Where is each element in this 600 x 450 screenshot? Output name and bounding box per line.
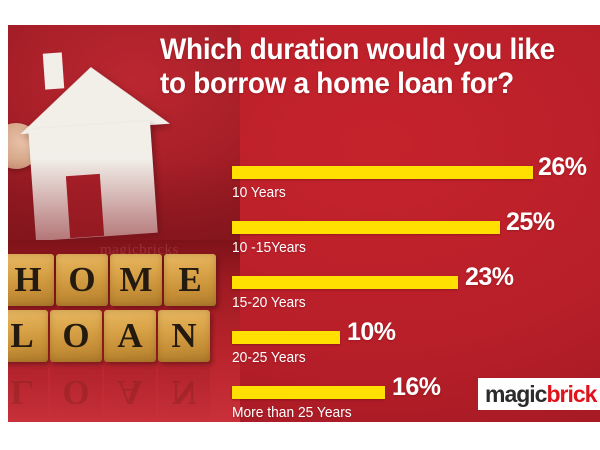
infographic-canvas: magicbricks H O M E L O A N L O A N — [0, 0, 600, 450]
page-title: Which duration would you like to borrow … — [160, 33, 577, 100]
red-panel: magicbricks H O M E L O A N L O A N — [8, 25, 600, 422]
magicbricks-logo[interactable]: magicbrick — [478, 378, 600, 410]
chart-row: 23% 15-20 Years — [232, 270, 600, 325]
logo-text-magic: magic — [485, 381, 546, 407]
bar-value-20-25-years: 10% — [347, 318, 396, 347]
logo-text-bricks: brick — [546, 381, 596, 407]
block-row-reflection: L O A N — [8, 366, 210, 418]
bar-value-more-than-25-years: 16% — [392, 373, 441, 402]
bar-value-10-15-years: 25% — [506, 208, 555, 237]
block-row-loan: L O A N — [8, 310, 210, 362]
bar-10-years — [232, 166, 533, 179]
bar-15-20-years — [232, 276, 458, 289]
block-letter-reflection: N — [158, 366, 210, 418]
block-letter: L — [8, 310, 48, 362]
bar-label-10-15-years: 10 -15Years — [232, 239, 306, 256]
block-letter: A — [104, 310, 156, 362]
bar-value-15-20-years: 23% — [465, 263, 514, 292]
bar-label-20-25-years: 20-25 Years — [232, 349, 306, 366]
chart-row: 10% 20-25 Years — [232, 325, 600, 380]
bar-label-more-than-25-years: More than 25 Years — [232, 404, 352, 421]
bar-label-15-20-years: 15-20 Years — [232, 294, 306, 311]
bar-label-10-years: 10 Years — [232, 184, 286, 201]
bar-10-15-years — [232, 221, 500, 234]
logo-wordmark: magicbrick — [478, 381, 596, 408]
block-letter: H — [8, 254, 54, 306]
block-letter: O — [56, 254, 108, 306]
bar-20-25-years — [232, 331, 340, 344]
bar-more-than-25-years — [232, 386, 385, 399]
wooden-blocks-photo: magicbricks H O M E L O A N L O A N — [8, 240, 240, 422]
block-letter-reflection: L — [8, 366, 48, 418]
block-letter: E — [164, 254, 216, 306]
block-letter-reflection: O — [50, 366, 102, 418]
block-row-home: H O M E — [8, 254, 216, 306]
chart-row: 26% 10 Years — [232, 160, 600, 215]
chart-row: 25% 10 -15Years — [232, 215, 600, 270]
block-letter: M — [110, 254, 162, 306]
block-letter: N — [158, 310, 210, 362]
block-letter-reflection: A — [104, 366, 156, 418]
block-letter: O — [50, 310, 102, 362]
bar-value-10-years: 26% — [538, 153, 587, 182]
